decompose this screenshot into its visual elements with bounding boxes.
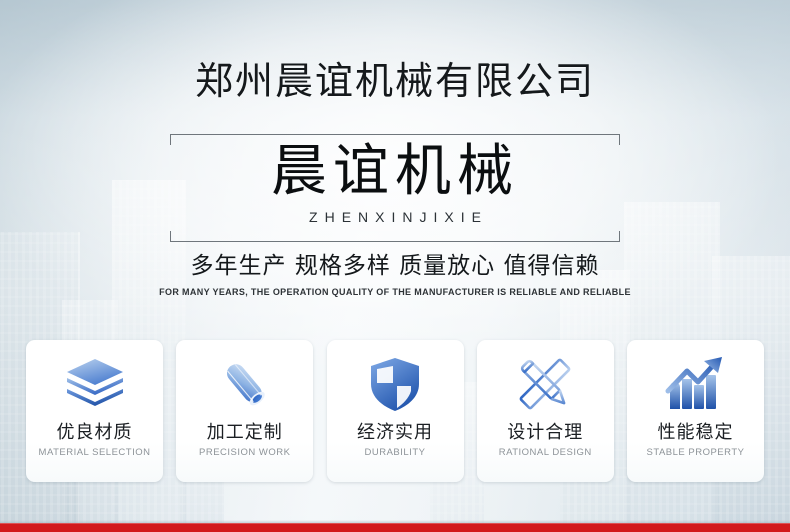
frame-bottom-line [170, 241, 620, 242]
feature-card-precision-work[interactable]: 加工定制 PRECISION WORK [176, 340, 313, 482]
feature-card-list: 优良材质 MATERIAL SELECTION [26, 340, 764, 482]
feature-card-stable-property[interactable]: 性能稳定 STABLE PROPERTY [627, 340, 764, 482]
slogan-english: FOR MANY YEARS, THE OPERATION QUALITY OF… [0, 286, 790, 299]
feature-card-subtitle: PRECISION WORK [199, 446, 290, 459]
layers-icon [63, 353, 127, 415]
feature-card-title: 经济实用 [357, 421, 433, 445]
company-name-heading: 郑州晨谊机械有限公司 [0, 58, 790, 104]
shield-icon [363, 353, 427, 415]
feature-card-subtitle: STABLE PROPERTY [647, 446, 745, 459]
frame-top-line [170, 134, 620, 135]
bottom-accent-bar [0, 523, 790, 532]
feature-card-title: 设计合理 [507, 421, 583, 445]
feature-card-durability[interactable]: 经济实用 DURABILITY [327, 340, 464, 482]
feature-card-subtitle: RATIONAL DESIGN [499, 446, 592, 459]
company-promo-banner: 郑州晨谊机械有限公司 晨谊机械 ZHENXINJIXIE 多年生产 规格多样 质… [0, 0, 790, 532]
slogan-chinese: 多年生产 规格多样 质量放心 值得信赖 [0, 251, 790, 281]
feature-card-title: 优良材质 [57, 421, 133, 445]
growth-chart-icon [664, 353, 728, 415]
feature-card-material-selection[interactable]: 优良材质 MATERIAL SELECTION [26, 340, 163, 482]
ruler-pencil-icon [513, 353, 577, 415]
feature-card-subtitle: DURABILITY [365, 446, 426, 459]
feature-card-rational-design[interactable]: 设计合理 RATIONAL DESIGN [477, 340, 614, 482]
pipe-tube-icon [213, 353, 277, 415]
feature-card-title: 加工定制 [207, 421, 283, 445]
brand-name: 晨谊机械 [170, 140, 620, 204]
feature-card-subtitle: MATERIAL SELECTION [39, 446, 151, 459]
brand-name-pinyin: ZHENXINJIXIE [170, 208, 620, 226]
frame-corner-bottom-right [619, 231, 620, 242]
feature-card-title: 性能稳定 [658, 421, 734, 445]
logo-frame: 晨谊机械 ZHENXINJIXIE [170, 134, 620, 242]
frame-corner-bottom-left [170, 231, 171, 242]
